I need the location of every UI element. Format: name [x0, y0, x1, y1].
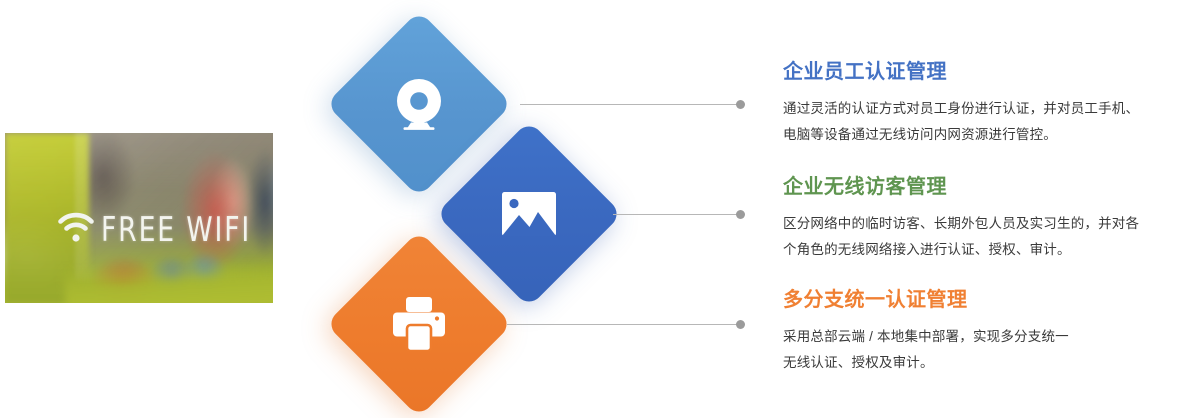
feature-block-3: 多分支统一认证管理 采用总部云端 / 本地集中部署，实现多分支统一 无线认证、授… [783, 288, 1195, 376]
photo-green-ledge [64, 259, 273, 303]
connector-dot-2 [736, 210, 745, 219]
connector-line-3 [507, 324, 740, 325]
feature-title-2: 企业无线访客管理 [783, 175, 1195, 199]
feature-desc-1-line-1: 通过灵活的认证方式对员工身份进行认证，并对员工手机、 [783, 101, 1139, 116]
free-wifi-photo: FREE WIFI [5, 133, 273, 303]
photo-glass-reflection [75, 133, 273, 281]
connector-dot-1 [736, 100, 745, 109]
feature-desc-3-line-1: 采用总部云端 / 本地集中部署，实现多分支统一 [783, 329, 1069, 344]
feature-desc-1: 通过灵活的认证方式对员工身份进行认证，并对员工手机、 电脑等设备通过无线访问内网… [783, 96, 1195, 148]
feature-desc-2-line-2: 个角色的无线网络接入进行认证、授权、审计。 [783, 242, 1071, 257]
feature-desc-1-line-2: 电脑等设备通过无线访问内网资源进行管控。 [783, 127, 1057, 142]
free-wifi-sign-text: FREE WIFI [101, 209, 251, 249]
feature-desc-3: 采用总部云端 / 本地集中部署，实现多分支统一 无线认证、授权及审计。 [783, 324, 1195, 376]
feature-title-3: 多分支统一认证管理 [783, 288, 1195, 312]
printer-icon [391, 297, 447, 351]
connector-dot-3 [736, 320, 745, 329]
connector-line-1 [520, 104, 740, 105]
feature-desc-3-line-2: 无线认证、授权及审计。 [783, 355, 934, 370]
feature-desc-2-line-1: 区分网络中的临时访客、长期外包人员及实习生的，并对各 [783, 216, 1139, 231]
connector-line-2 [613, 214, 740, 215]
feature-block-2: 企业无线访客管理 区分网络中的临时访客、长期外包人员及实习生的，并对各 个角色的… [783, 175, 1195, 263]
image-icon [502, 192, 556, 236]
feature-title-1: 企业员工认证管理 [783, 60, 1195, 84]
feature-desc-2: 区分网络中的临时访客、长期外包人员及实习生的，并对各 个角色的无线网络接入进行认… [783, 211, 1195, 263]
feature-block-1: 企业员工认证管理 通过灵活的认证方式对员工身份进行认证，并对员工手机、 电脑等设… [783, 60, 1195, 148]
webcam-icon [390, 75, 448, 133]
feature-section: FREE WIFI [0, 0, 1200, 418]
wifi-icon [57, 209, 95, 243]
